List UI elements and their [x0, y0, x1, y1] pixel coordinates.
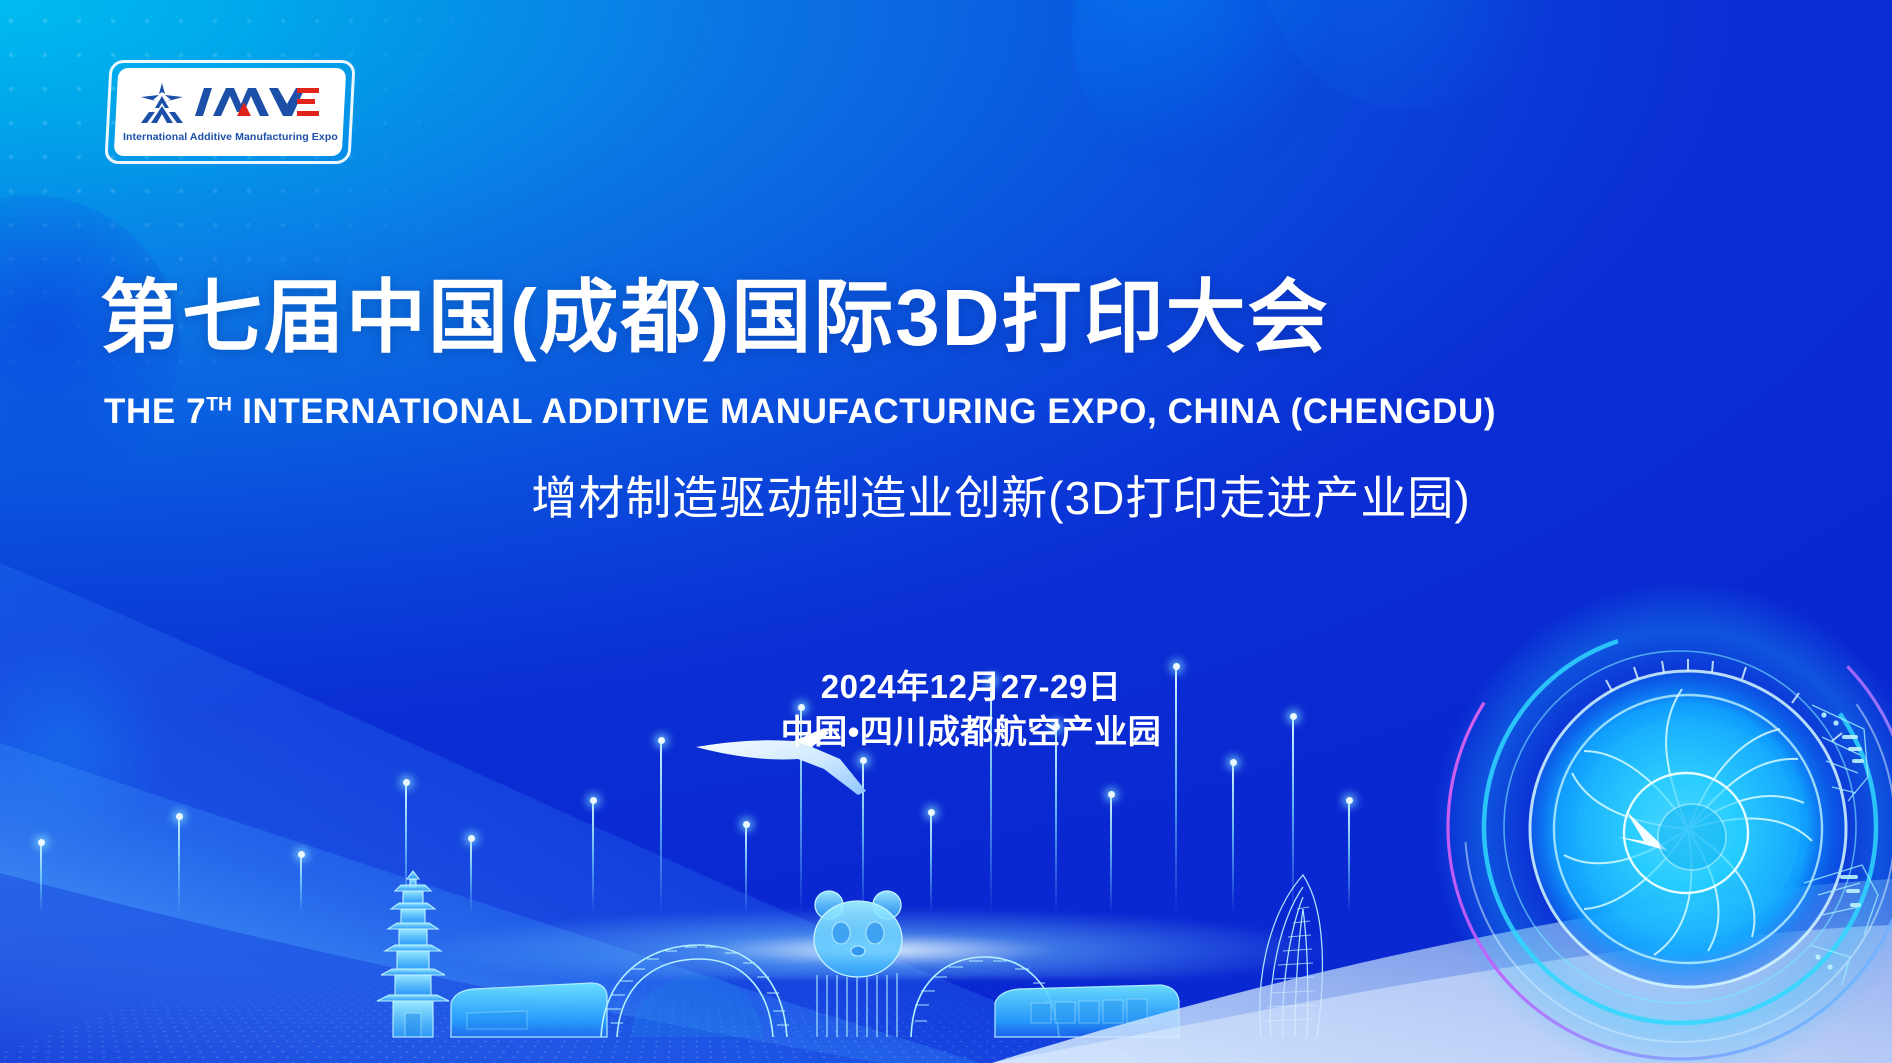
- page-title: 第七届中国(成都)国际3D打印大会: [100, 278, 1500, 358]
- title-en-ordinal: TH: [206, 394, 232, 415]
- title-en-rest: INTERNATIONAL ADDITIVE MANUFACTURING EXP…: [232, 392, 1496, 431]
- event-date: 2024年12月27-29日: [50, 665, 1892, 710]
- jet-engine-turbine-graphic: [1412, 565, 1892, 1063]
- event-theme: 增材制造驱动制造业创新(3D打印走进产业园): [0, 472, 1892, 525]
- iame-logo-tagline: International Additive Manufacturing Exp…: [123, 131, 338, 143]
- event-meta: 2024年12月27-29日 中国•四川成都航空产业园: [0, 665, 1892, 754]
- iame-logo-mark-icon: [139, 82, 185, 129]
- event-venue: 中国•四川成都航空产业园: [50, 710, 1892, 755]
- title-en-prefix: THE 7: [104, 392, 206, 431]
- event-banner: International Additive Manufacturing Exp…: [0, 0, 1892, 1063]
- page-title-english: THE 7TH INTERNATIONAL ADDITIVE MANUFACTU…: [104, 394, 1524, 429]
- iame-logo-badge[interactable]: International Additive Manufacturing Exp…: [114, 68, 347, 156]
- iame-wordmark: [193, 86, 321, 125]
